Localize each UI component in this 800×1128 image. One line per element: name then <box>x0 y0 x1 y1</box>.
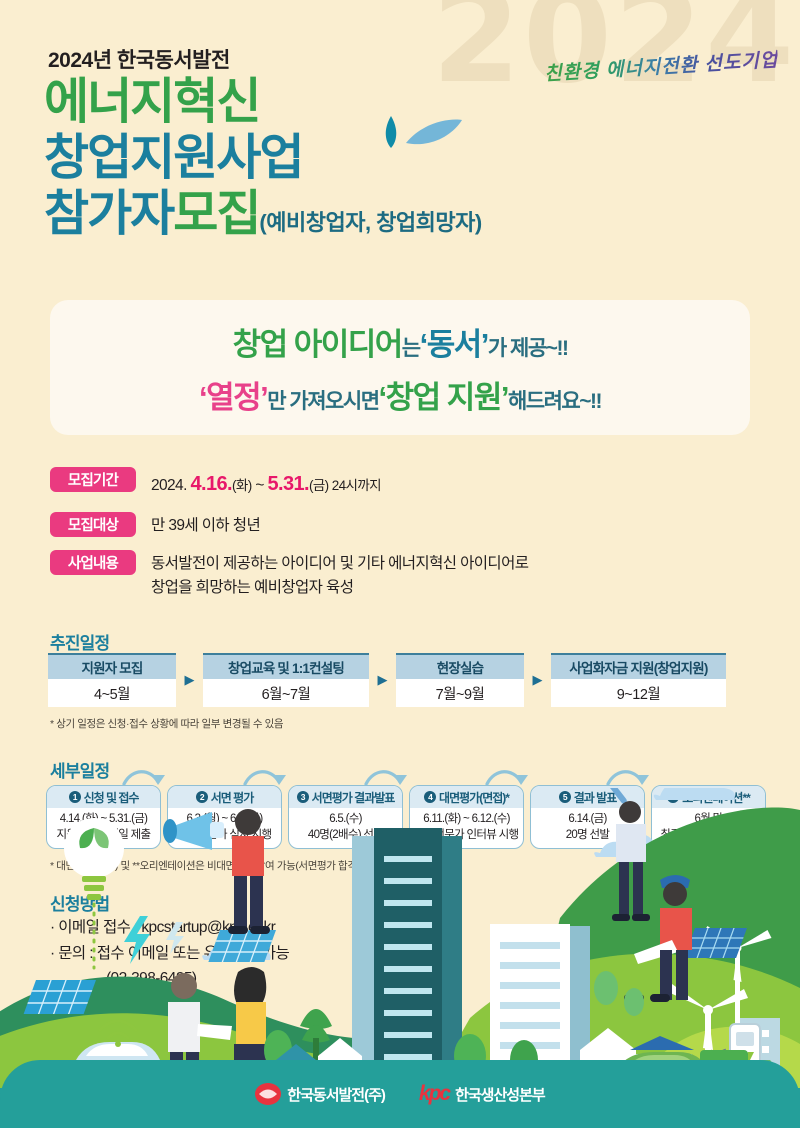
logo-kpc-name: 한국생산성본부 <box>455 1084 545 1105</box>
slogan-1-part2: 는 <box>402 337 420 360</box>
info-target-text: 만 39세 이하 청년 <box>151 512 260 537</box>
slogan-line-2: ‘열정’만 가져오시면‘창업 지원’해드려요~!! <box>199 372 601 417</box>
flow-stage-3: 현장실습 7월~9월 <box>396 653 524 707</box>
flow-stage-1-title: 지원자 모집 <box>48 653 176 679</box>
kewp-logo-icon <box>255 1083 281 1105</box>
info-period-text: 2024. 4.16.(화) ~ 5.31.(금) 24시까지 <box>151 467 381 499</box>
period-date-end: 5.31. <box>267 473 308 495</box>
lightning-bolt-icon <box>124 916 184 964</box>
period-date-start: 4.16. <box>191 473 232 495</box>
slogan-2-part3: ‘창업 지원’ <box>379 380 508 415</box>
kicker-text: 2024년 한국동서발전 <box>48 44 230 74</box>
promotion-schedule-flow: 지원자 모집 4~5월 ▶ 창업교육 및 1:1컨설팅 6월~7월 ▶ 현장실습… <box>48 653 726 707</box>
period-day-start: (화) <box>232 478 252 493</box>
period-day-end: (금) 24시까지 <box>309 478 381 493</box>
flow-arrow-3-icon: ▶ <box>524 653 551 707</box>
info-row-target: 모집대상 만 39세 이하 청년 <box>50 512 750 537</box>
slogan-1-part4: 가 제공~!! <box>488 337 568 360</box>
slogan-1-part1: 창업 아이디어 <box>233 327 402 362</box>
flow-stage-4-title: 사업화자금 지원(창업지원) <box>551 653 726 679</box>
section-heading-promotion-schedule: 추진일정 <box>50 629 109 654</box>
slogan-line-1: 창업 아이디어는‘동서’가 제공~!! <box>233 319 568 364</box>
slogan-card: 창업 아이디어는‘동서’가 제공~!! ‘열정’만 가져오시면‘창업 지원’해드… <box>50 300 750 435</box>
slogan-2-part1: ‘열정’ <box>199 380 267 415</box>
info-row-content: 사업내용 동서발전이 제공하는 아이디어 및 기타 에너지혁신 아이디어로 창업… <box>50 550 750 599</box>
flow-stage-3-title: 현장실습 <box>396 653 524 679</box>
slogan-2-part4: 해드려요~!! <box>508 390 601 413</box>
flow-arrow-1-icon: ▶ <box>176 653 203 707</box>
badge-business-content: 사업내용 <box>50 550 136 575</box>
badge-recruit-period: 모집기간 <box>50 467 136 492</box>
flow-stage-4-period: 9~12월 <box>551 679 726 707</box>
title-line-3-sub: (예비창업자, 창업희망자) <box>259 210 481 235</box>
info-content-line-2: 창업을 희망하는 예비창업자 육성 <box>151 576 528 599</box>
flow-stage-2: 창업교육 및 1:1컨설팅 6월~7월 <box>203 653 369 707</box>
person-megaphone <box>163 809 270 934</box>
promotion-schedule-note: * 상기 일정은 신청·접수 상황에 따라 일부 변경될 수 있음 <box>50 716 283 731</box>
poster-root: 2024 친환경 에너지전환 선도기업 2024년 한국동서발전 에너지혁신 창… <box>0 0 800 1128</box>
info-list: 모집기간 2024. 4.16.(화) ~ 5.31.(금) 24시까지 모집대… <box>50 467 750 612</box>
leaf-icon <box>378 110 478 170</box>
info-row-period: 모집기간 2024. 4.16.(화) ~ 5.31.(금) 24시까지 <box>50 467 750 499</box>
flow-stage-1: 지원자 모집 4~5월 <box>48 653 176 707</box>
info-content-line-1: 동서발전이 제공하는 아이디어 및 기타 에너지혁신 아이디어로 <box>151 552 528 575</box>
period-prefix: 2024. <box>151 477 191 494</box>
flow-stage-4: 사업화자금 지원(창업지원) 9~12월 <box>551 653 726 707</box>
lightbulb-eco-icon <box>64 818 124 968</box>
info-content-text: 동서발전이 제공하는 아이디어 및 기타 에너지혁신 아이디어로 창업을 희망하… <box>151 550 528 599</box>
logo-kewp-name: 한국동서발전(주) <box>287 1084 385 1105</box>
logo-kpc: kpc 한국생산성본부 <box>419 1082 545 1106</box>
period-separator: ~ <box>252 477 268 494</box>
logo-kewp: 한국동서발전(주) <box>255 1083 385 1105</box>
footer-bar: 한국동서발전(주) kpc 한국생산성본부 <box>0 1060 800 1128</box>
flow-arrow-2-icon: ▶ <box>369 653 396 707</box>
flow-stage-2-title: 창업교육 및 1:1컨설팅 <box>203 653 369 679</box>
title-line-3-b: 모집 <box>173 187 259 241</box>
slogan-2-part2: 만 가져오시면 <box>267 390 378 413</box>
solar-panel-icon-hill <box>684 928 747 958</box>
title-line-3-a: 참가자 <box>44 187 173 241</box>
flow-stage-3-period: 7월~9월 <box>396 679 524 707</box>
slogan-1-part3: ‘동서’ <box>420 327 488 362</box>
flow-stage-2-period: 6월~7월 <box>203 679 369 707</box>
title-line-3: 참가자모집(예비창업자, 창업희망자) <box>44 190 482 239</box>
flow-stage-1-period: 4~5월 <box>48 679 176 707</box>
logo-kpc-mark: kpc <box>419 1082 449 1106</box>
badge-recruit-target: 모집대상 <box>50 512 136 537</box>
